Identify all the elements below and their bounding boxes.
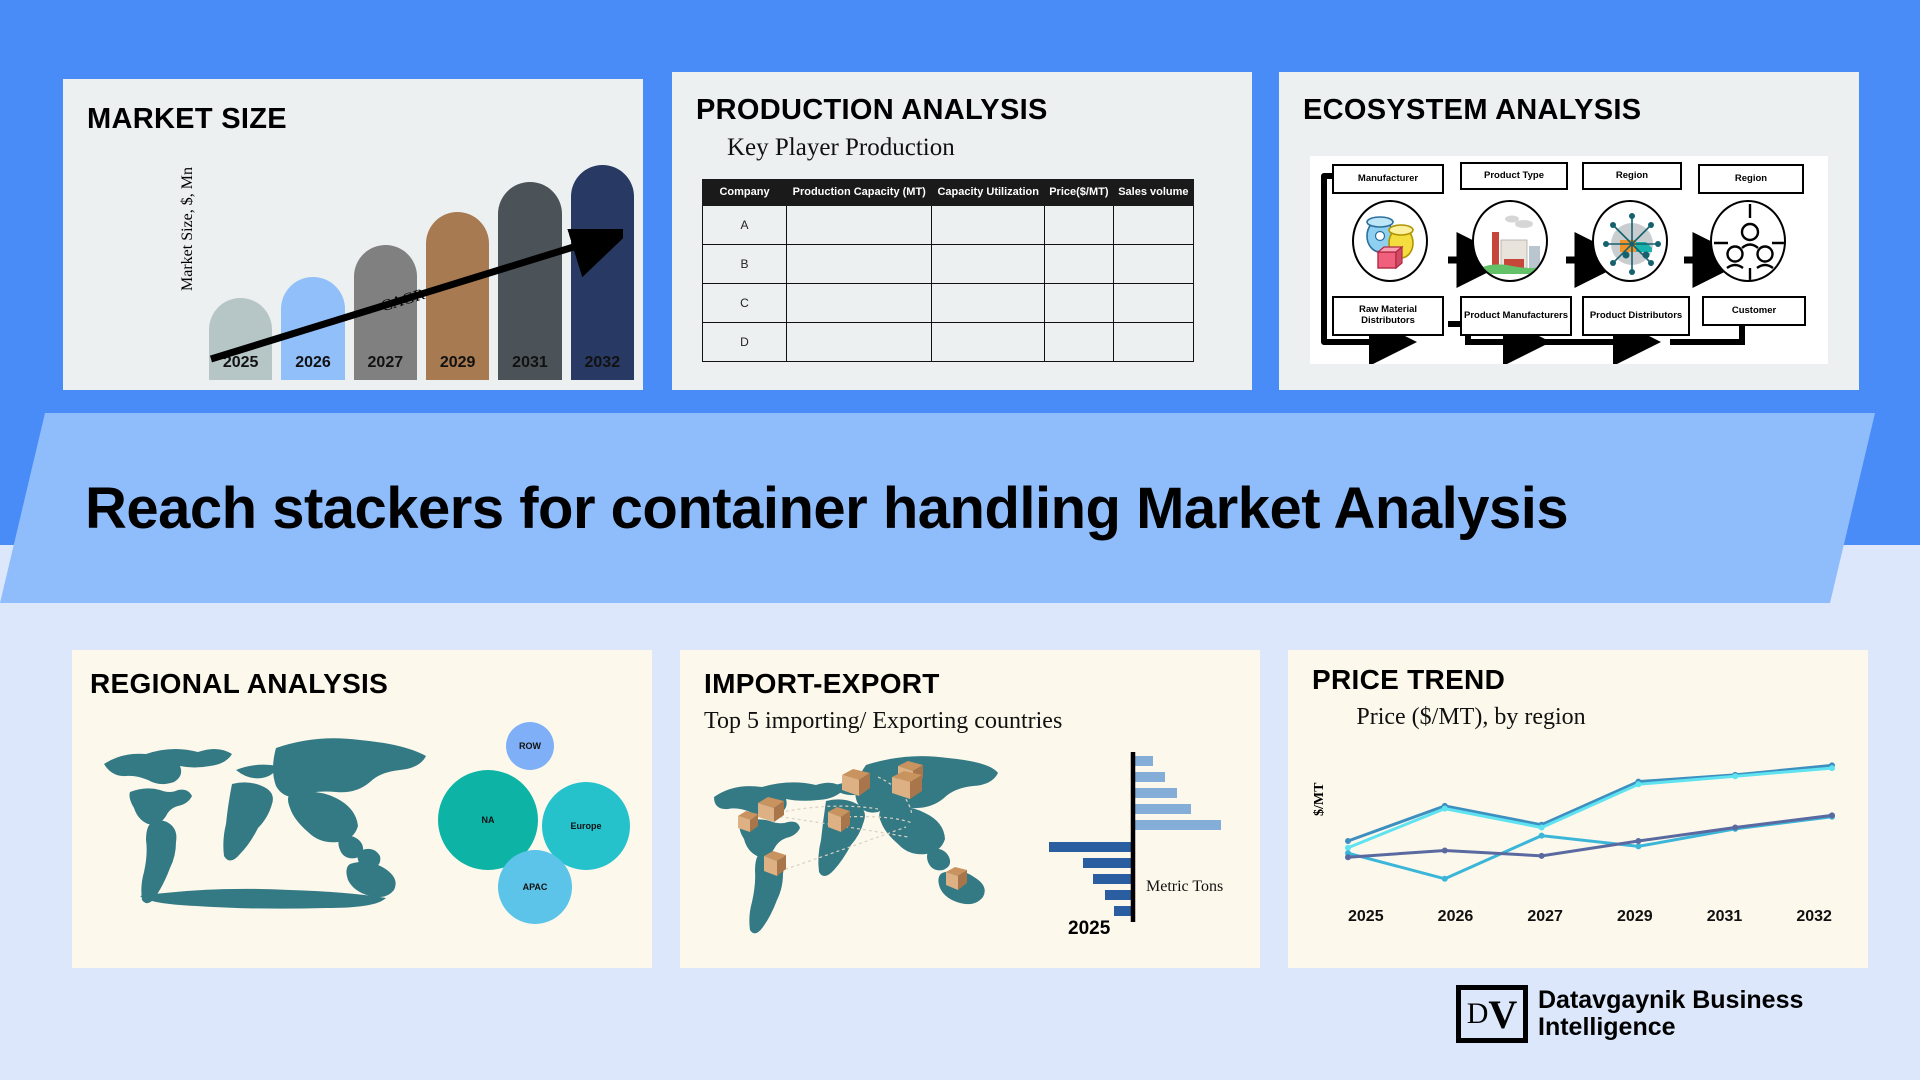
price-trend-x-tick: 2031 [1707,908,1743,926]
market-size-bar-year-label: 2029 [440,354,476,380]
price-trend-y-axis-label: $/MT [1312,783,1328,816]
market-size-bar-year-label: 2027 [368,354,404,380]
price-trend-line [1348,815,1832,857]
table-cell [787,205,932,244]
market-size-bar: 2032 [571,165,634,380]
price-trend-x-tick: 2025 [1348,908,1384,926]
price-trend-point [1635,843,1641,849]
import-export-panel: IMPORT-EXPORT Top 5 importing/ Exporting… [680,650,1260,968]
import-export-title: IMPORT-EXPORT [704,668,940,700]
price-trend-x-tick: 2026 [1438,908,1474,926]
price-trend-point [1829,812,1835,818]
production-subtitle: Key Player Production [727,134,955,162]
table-cell [787,322,932,361]
price-trend-subtitle: Price ($/MT), by region [1346,702,1596,732]
table-body: ABCD [703,205,1194,361]
price-trend-point [1732,773,1738,779]
export-bar [1105,890,1131,900]
price-trend-point [1345,845,1351,851]
table-cell [932,283,1045,322]
market-size-bar: 2031 [498,182,561,380]
import-bar [1135,820,1221,830]
table-cell [1044,322,1113,361]
production-title: PRODUCTION ANALYSIS [696,94,1048,127]
export-bar [1093,874,1131,884]
table-cell: D [703,322,787,361]
distribution-network-icon [1592,200,1668,282]
price-trend-panel: PRICE TREND Price ($/MT), by region $/MT… [1288,650,1868,968]
import-bar [1135,788,1177,798]
dv-monogram-icon: D V [1456,985,1528,1043]
logo-letter-v: V [1488,991,1517,1038]
price-trend-x-tick: 2027 [1527,908,1563,926]
table-cell: C [703,283,787,322]
table-cell [1113,322,1193,361]
price-trend-point [1345,838,1351,844]
market-size-panel: MARKET SIZE Market Size, $, Mn 202520262… [63,79,643,390]
import-bar [1135,772,1165,782]
price-trend-point [1442,806,1448,812]
region-bubble: ROW [506,722,554,770]
market-size-y-axis-label: Market Size, $, Mn [179,167,197,291]
ecosystem-analysis-panel: ECOSYSTEM ANALYSIS Manufacturer Product … [1279,72,1859,390]
import-export-subtitle: Top 5 importing/ Exporting countries [704,708,1062,735]
ecosystem-title: ECOSYSTEM ANALYSIS [1303,94,1641,127]
eco-top-label-3: Region [1698,164,1804,194]
table-cell [932,244,1045,283]
logo-wordmark: Datavgaynik Business Intelligence [1538,987,1803,1042]
price-trend-point [1442,876,1448,882]
price-trend-point [1732,825,1738,831]
region-bubble: APAC [498,850,572,924]
eco-top-label-2: Region [1582,162,1682,190]
price-trend-x-axis: 202520262027202920312032 [1330,908,1850,926]
price-trend-title: PRICE TREND [1312,664,1505,696]
price-trend-point [1635,838,1641,844]
table-column-header: Capacity Utilization [932,180,1045,206]
production-analysis-panel: PRODUCTION ANALYSIS Key Player Productio… [672,72,1252,390]
table-column-header: Company [703,180,787,206]
table-row: B [703,244,1194,283]
ecosystem-diagram: Manufacturer Product Type Region Region [1310,156,1828,364]
price-trend-x-tick: 2032 [1796,908,1832,926]
market-size-bar-year-label: 2025 [223,354,259,380]
customers-icon [1710,200,1786,282]
price-trend-line-chart [1330,748,1850,903]
regional-title: REGIONAL ANALYSIS [90,668,388,700]
price-trend-point [1635,781,1641,787]
table-cell [1044,283,1113,322]
table-column-header: Sales volume [1113,180,1193,206]
table-cell [1113,244,1193,283]
price-trend-line [1348,765,1832,841]
regional-bubble-chart: NAEuropeAPACROW [438,722,636,922]
market-size-bar: 2025 [209,298,272,380]
price-trend-point [1829,765,1835,771]
price-trend-point [1539,833,1545,839]
logo-letter-d: D [1467,997,1489,1031]
table-cell [1044,205,1113,244]
table-cell [932,205,1045,244]
eco-bottom-label-3: Customer [1702,296,1806,326]
page-title: Reach stackers for container handling Ma… [85,475,1568,542]
table-header-row: CompanyProduction Capacity (MT)Capacity … [703,180,1194,206]
import-bar [1135,804,1191,814]
import-export-year-label: 2025 [1068,918,1110,940]
table-row: C [703,283,1194,322]
table-cell: B [703,244,787,283]
table-column-header: Production Capacity (MT) [787,180,932,206]
eco-bottom-label-2: Product Distributors [1582,296,1690,336]
regional-analysis-panel: REGIONAL ANALYSIS NAEuropeAPACROW [72,650,652,968]
table-cell [1044,244,1113,283]
market-size-bar: 2026 [281,277,344,380]
table-cell: A [703,205,787,244]
import-export-tornado-chart [1025,750,1240,950]
price-trend-x-tick: 2029 [1617,908,1653,926]
export-bar [1083,858,1131,868]
metric-tons-label: Metric Tons [1146,878,1223,896]
factory-icon [1472,200,1548,282]
table-cell [787,283,932,322]
market-size-bar: 2029 [426,212,489,380]
market-size-bar-year-label: 2032 [585,354,621,380]
company-logo: D V Datavgaynik Business Intelligence [1456,985,1803,1043]
trade-routes-map-icon [702,755,1002,940]
key-player-production-table: CompanyProduction Capacity (MT)Capacity … [702,179,1194,362]
export-bars [1049,842,1131,916]
barrels-icon [1352,200,1428,282]
price-trend-point [1345,854,1351,860]
eco-top-label-0: Manufacturer [1332,164,1444,194]
table-cell [1113,205,1193,244]
logo-line-2: Intelligence [1538,1014,1803,1042]
price-trend-point [1442,847,1448,853]
table-cell [932,322,1045,361]
table-cell [1113,283,1193,322]
table-row: D [703,322,1194,361]
logo-line-1: Datavgaynik Business [1538,987,1803,1015]
market-size-title: MARKET SIZE [87,103,287,136]
world-map-icon [90,718,430,923]
market-size-bar-year-label: 2031 [512,354,548,380]
market-size-bar-year-label: 2026 [295,354,331,380]
export-bar [1049,842,1131,852]
export-bar [1114,906,1131,916]
price-trend-point [1539,825,1545,831]
eco-bottom-label-0: Raw Material Distributors [1332,296,1444,336]
eco-top-label-1: Product Type [1460,162,1568,190]
table-row: A [703,205,1194,244]
market-size-bar-group: 202520262027202920312032 [209,165,634,380]
table-cell [787,244,932,283]
price-trend-line [1348,768,1832,848]
import-bars [1135,756,1221,830]
import-bar [1135,756,1153,766]
main-banner: Reach stackers for container handling Ma… [0,413,1920,603]
table-column-header: Price($/MT) [1044,180,1113,206]
eco-bottom-label-1: Product Manufacturers [1460,296,1572,336]
price-trend-point [1539,853,1545,859]
